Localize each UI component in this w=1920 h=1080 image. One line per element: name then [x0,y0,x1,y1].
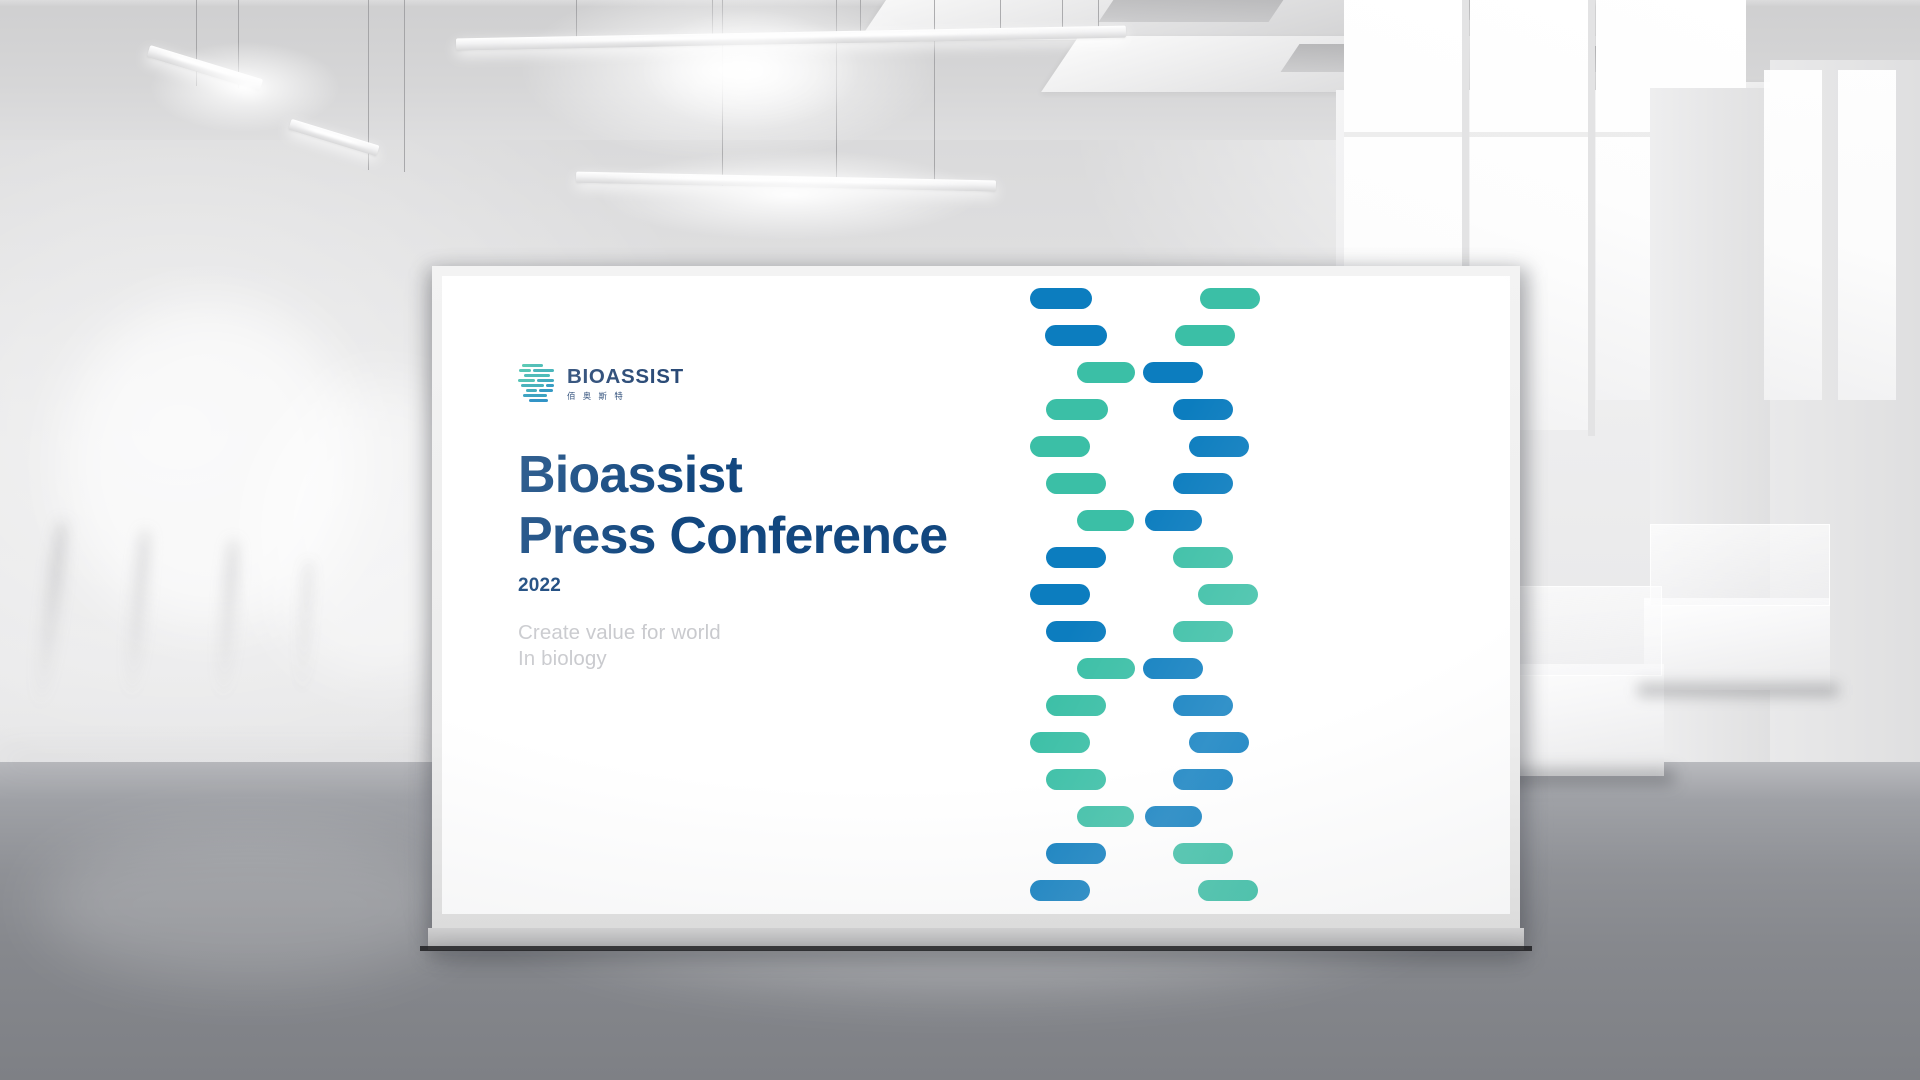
dna-bar-left-7 [1077,510,1134,531]
dna-bar-left-15 [1077,806,1134,827]
brand-logo: BIOASSIST 佰奥斯特 [518,364,684,403]
dna-bar-right-16 [1173,843,1233,864]
window-mullion-2 [1588,0,1595,436]
logo-mark-bar-3 [519,369,531,372]
wall-streak-1 [32,520,69,710]
dna-bar-right-7 [1145,510,1202,531]
presentation-board-frame: BIOASSIST 佰奥斯特 Bioassist Press Conferenc… [432,266,1520,928]
dna-bar-left-6 [1046,473,1106,494]
brand-name: BIOASSIST [567,367,684,388]
screenshot-root: BIOASSIST 佰奥斯特 Bioassist Press Conferenc… [0,0,1920,1080]
dna-bar-right-12 [1173,695,1233,716]
dna-bar-right-5 [1189,436,1249,457]
dna-bar-left-16 [1046,843,1106,864]
dna-bar-right-17 [1198,880,1258,901]
dna-bar-right-2 [1175,325,1235,346]
dna-bar-left-1 [1030,288,1092,309]
dna-bar-left-14 [1046,769,1106,790]
logo-mark-bar-7 [537,379,554,382]
plinth-shadow-rear [1638,684,1838,696]
dna-bar-right-3 [1143,362,1203,383]
logo-mark-bar-11 [539,389,553,392]
dna-bar-right-14 [1173,769,1233,790]
logo-mark-bar-4 [533,369,554,372]
ceiling-slat-1 [1099,0,1292,22]
slide-tagline: Create value for world In biology [518,620,938,672]
logo-mark-bar-8 [521,384,544,387]
presentation-slide: BIOASSIST 佰奥斯特 Bioassist Press Conferenc… [442,276,1510,914]
dna-bar-left-13 [1030,732,1090,753]
dna-bar-right-4 [1173,399,1233,420]
wall-floor-junction [0,756,440,772]
pendant-wire-4 [404,0,405,172]
window-right-tall [1764,70,1822,400]
board-base-shadow [440,950,1520,966]
dna-bar-left-8 [1046,547,1106,568]
dna-bar-left-11 [1077,658,1135,679]
dna-bar-right-11 [1143,658,1203,679]
dna-bar-left-9 [1030,584,1090,605]
logo-mark-bar-12 [523,394,547,397]
dna-bar-right-10 [1173,621,1233,642]
dna-bar-right-13 [1189,732,1249,753]
dna-bar-right-1 [1200,288,1260,309]
dna-bar-left-2 [1045,325,1107,346]
logo-mark-bar-5 [524,374,550,377]
pendant-wire-13 [1062,0,1063,30]
window-right-tall-2 [1838,70,1896,400]
logo-mark-bar-9 [546,384,554,387]
dna-bar-left-5 [1030,436,1090,457]
dna-bar-left-10 [1046,621,1106,642]
brand-name-chinese: 佰奥斯特 [567,392,684,400]
brand-logo-text: BIOASSIST 佰奥斯特 [567,367,684,400]
logo-mark-bar-13 [529,399,548,402]
dna-bar-right-15 [1145,806,1202,827]
pendant-glow-c [150,42,340,132]
slide-title: Bioassist Press Conference [518,445,1078,567]
dna-bar-right-9 [1198,584,1258,605]
logo-mark-bar-10 [526,389,537,392]
bioassist-mark-icon [518,364,556,403]
pendant-glow-d [600,150,980,240]
dna-bar-left-17 [1030,880,1090,901]
display-plinth-rear [1644,598,1830,690]
dna-gel-graphic [1030,276,1290,914]
dna-bar-right-6 [1173,473,1233,494]
display-vitrine-rear [1650,524,1830,606]
dna-bar-left-4 [1046,399,1108,420]
logo-mark-bar-6 [518,379,535,382]
pendant-glow-b [640,10,860,130]
floor-sheen-left [40,830,460,980]
dna-bar-left-12 [1046,695,1106,716]
dna-bar-left-3 [1077,362,1135,383]
slide-year: 2022 [518,575,561,597]
logo-mark-bar-2 [530,364,543,367]
dna-bar-right-8 [1173,547,1233,568]
